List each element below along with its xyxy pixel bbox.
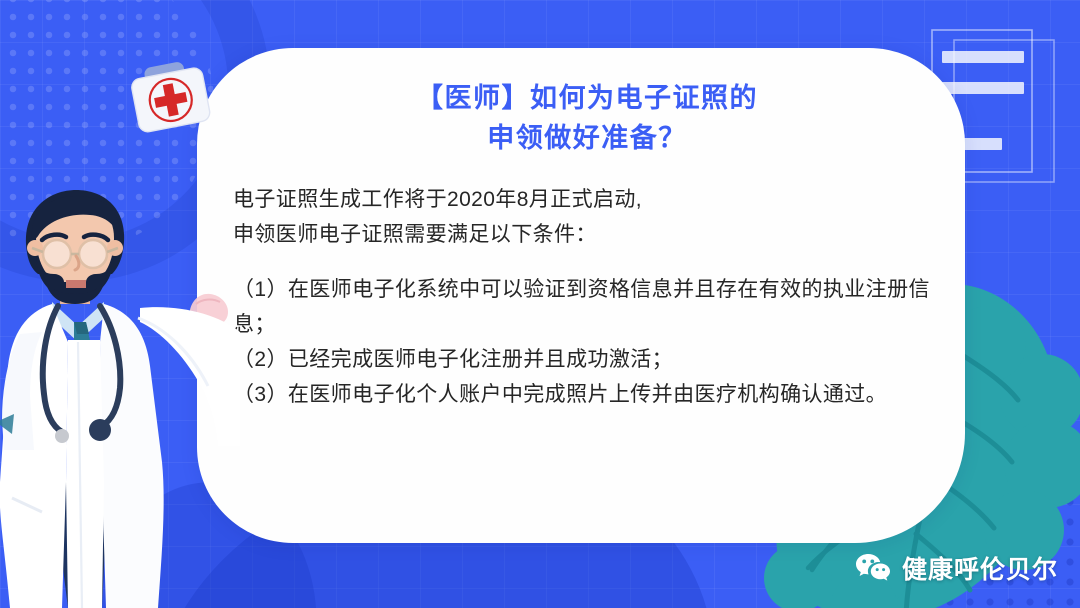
condition-item-1: （1）在医师电子化系统中可以验证到资格信息并且存在有效的执业注册信息； xyxy=(233,272,945,342)
watermark: 健康呼伦贝尔 xyxy=(855,550,1058,586)
condition-item-2: （2）已经完成医师电子化注册并且成功激活； xyxy=(233,342,945,377)
watermark-label: 健康呼伦贝尔 xyxy=(902,550,1058,586)
intro-paragraph: 电子证照生成工作将于2020年8月正式启动, 申领医师电子证照需要满足以下条件： xyxy=(233,182,945,252)
page-title: 【医师】如何为电子证照的 申领做好准备？ xyxy=(229,78,945,158)
poster-canvas: 【医师】如何为电子证照的 申领做好准备？ 电子证照生成工作将于2020年8月正式… xyxy=(0,0,1080,608)
first-aid-kit-icon xyxy=(118,48,222,144)
content-card: 【医师】如何为电子证照的 申领做好准备？ 电子证照生成工作将于2020年8月正式… xyxy=(197,48,965,543)
paragraph-spacer xyxy=(233,252,945,272)
condition-item-3: （3）在医师电子化个人账户中完成照片上传并由医疗机构确认通过。 xyxy=(233,377,945,412)
wechat-icon xyxy=(855,552,891,584)
doctor-illustration xyxy=(0,182,240,608)
